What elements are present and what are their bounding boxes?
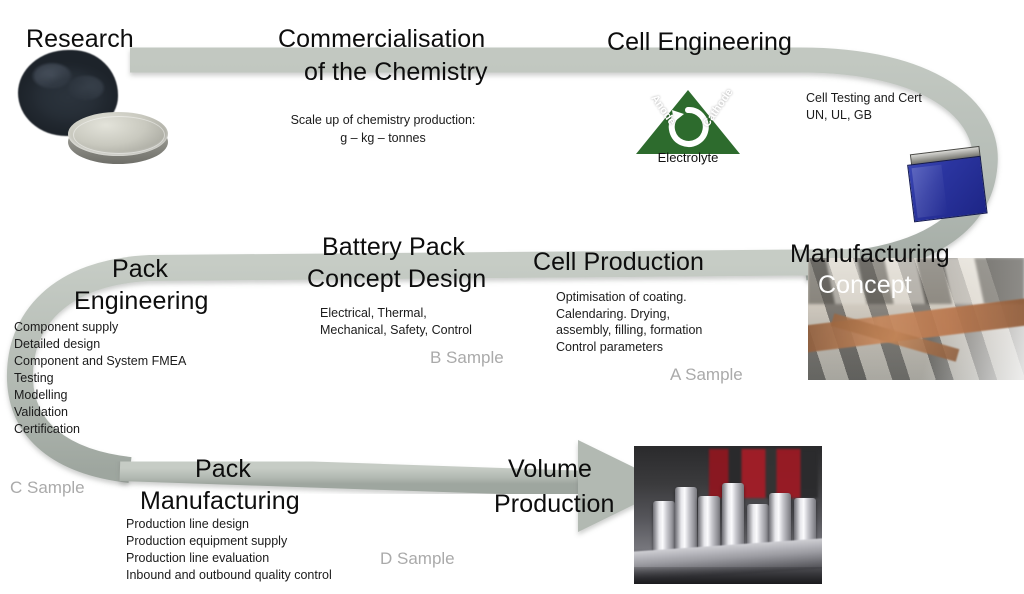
coin-cell-icon — [66, 108, 172, 170]
stage-title-pack-engineering-line2: Engineering — [74, 287, 209, 315]
detail-cell-testing-line2: UN, UL, GB — [806, 107, 872, 123]
stage-title-pack-concept-line1: Battery Pack — [322, 233, 465, 261]
stage-title-pack-concept-line2: Concept Design — [307, 265, 486, 293]
detail-pack-concept-1: Mechanical, Safety, Control — [320, 322, 472, 338]
stage-title-cell-engineering: Cell Engineering — [607, 28, 792, 56]
process-flow-diagram: Research Commercialisation of the Chemis… — [0, 0, 1024, 594]
detail-pack-engineering-3: Testing — [14, 370, 54, 386]
detail-cell-production-3: Control parameters — [556, 339, 663, 355]
stage-title-commercialisation-line2: of the Chemistry — [304, 58, 488, 86]
sample-label-a: A Sample — [670, 365, 743, 384]
detail-pack-engineering-2: Component and System FMEA — [14, 353, 186, 369]
detail-cell-production-1: Calendaring. Drying, — [556, 306, 670, 322]
sample-label-c: C Sample — [10, 478, 85, 497]
stage-title-cell-production: Cell Production — [533, 248, 704, 276]
coin-cell-rim — [73, 116, 165, 154]
chemistry-triangle-icon: Anode Cathode Electrolyte — [632, 88, 744, 172]
stage-title-volume-production-line1: Volume — [508, 455, 592, 483]
detail-pack-engineering-6: Certification — [14, 421, 80, 437]
prismatic-cell-icon — [906, 146, 990, 227]
sample-label-d: D Sample — [380, 549, 455, 568]
sample-label-b: B Sample — [430, 348, 504, 367]
detail-commercialisation-line1: Scale up of chemistry production: — [253, 112, 513, 129]
cylindrical-cell-line-photo — [634, 446, 822, 584]
stage-title-pack-engineering-line1: Pack — [112, 255, 168, 283]
detail-pack-engineering-5: Validation — [14, 404, 68, 420]
machine-front-shadow — [634, 567, 822, 584]
triangle-label-electrolyte: Electrolyte — [632, 150, 744, 165]
detail-commercialisation-line2: g – kg – tonnes — [253, 130, 513, 147]
stage-title-volume-production-line2: Production — [494, 490, 615, 518]
detail-pack-manufacturing-0: Production line design — [126, 516, 249, 532]
detail-pack-concept-0: Electrical, Thermal, — [320, 305, 427, 321]
detail-pack-manufacturing-1: Production equipment supply — [126, 533, 287, 549]
stage-title-commercialisation-line1: Commercialisation — [278, 25, 485, 53]
detail-cell-testing-line1: Cell Testing and Cert — [806, 90, 922, 106]
detail-cell-production-2: assembly, filling, formation — [556, 322, 702, 338]
detail-cell-production-0: Optimisation of coating. — [556, 289, 687, 305]
stage-title-pack-manufacturing-line2: Manufacturing — [140, 487, 300, 515]
detail-pack-engineering-0: Component supply — [14, 319, 118, 335]
stage-title-pack-manufacturing-line1: Pack — [195, 455, 251, 483]
detail-pack-manufacturing-3: Inbound and outbound quality control — [126, 567, 332, 583]
prismatic-cell-gloss — [912, 165, 948, 218]
stage-title-manufacturing-line1: Manufacturing — [790, 240, 950, 268]
detail-pack-engineering-4: Modelling — [14, 387, 68, 403]
detail-pack-engineering-1: Detailed design — [14, 336, 100, 352]
stage-title-manufacturing-line2: Concept — [818, 271, 912, 299]
detail-pack-manufacturing-2: Production line evaluation — [126, 550, 269, 566]
